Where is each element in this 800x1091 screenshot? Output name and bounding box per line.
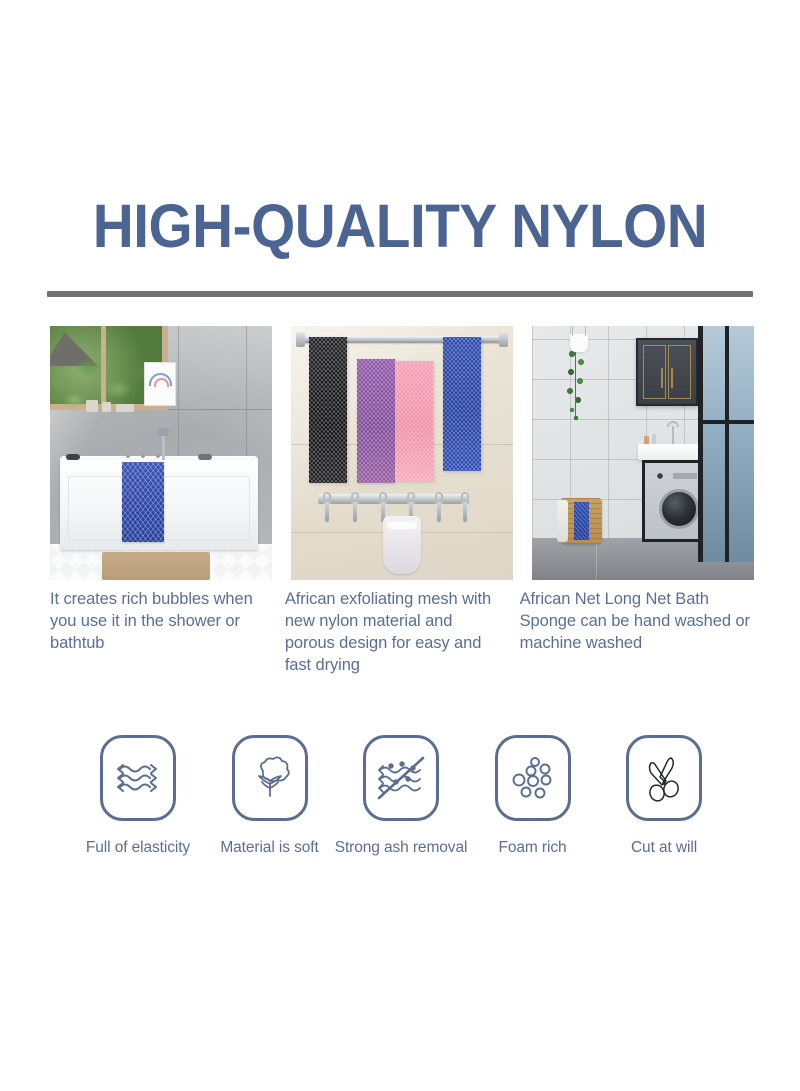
sponges-on-rail-photo [291, 326, 513, 580]
rack-hook [463, 502, 467, 522]
feature-label: Cut at will [631, 839, 697, 857]
elasticity-waves-icon [100, 735, 176, 821]
blue-mesh-sponge [443, 337, 481, 471]
feature-material-is-soft: Material is soft [208, 735, 332, 857]
pink-mesh-sponge [395, 361, 433, 481]
feature-foam-rich: Foam rich [471, 735, 595, 857]
feature-label: Full of elasticity [86, 839, 190, 857]
sink-tap [672, 426, 674, 444]
rail-bracket-right [499, 332, 508, 347]
blue-mesh-sponge [574, 502, 589, 540]
photo-column-1 [50, 326, 272, 580]
hanging-vine [562, 350, 592, 422]
photo-caption-2: African exfoliating mesh with new nylon … [285, 589, 501, 677]
basket-towel [557, 500, 568, 542]
photo-column-2 [291, 326, 513, 580]
sink-basin [638, 444, 706, 460]
hook-rack-bar [318, 494, 468, 504]
feature-label: Strong ash removal [335, 839, 468, 857]
plant-pot [570, 334, 588, 352]
cabinet-handles [661, 368, 673, 388]
black-mesh-sponge [309, 337, 347, 483]
page-title: HIGH-QUALITY NYLON [28, 196, 772, 257]
scissors-icon [626, 735, 702, 821]
washer-control-panel [655, 471, 701, 481]
bathroom-bathtub-photo [50, 326, 272, 580]
tub-handle-left [66, 454, 80, 460]
rack-hook [437, 502, 441, 522]
foam-bubbles-icon [495, 735, 571, 821]
photo-row [50, 326, 753, 580]
feature-full-of-elasticity: Full of elasticity [76, 735, 200, 857]
rail-bracket-left [296, 332, 305, 347]
rack-hook [325, 502, 329, 522]
photo-caption-1: It creates rich bubbles when you use it … [50, 589, 266, 677]
shower-head [162, 434, 165, 460]
no-ash-waves-icon [363, 735, 439, 821]
feature-row: Full of elasticity Material is soft [76, 735, 726, 857]
laundry-room-photo [532, 326, 754, 580]
feature-label: Material is soft [220, 839, 318, 857]
white-bath-mitt [383, 516, 421, 574]
photo-caption-3: African Net Long Net Bath Sponge can be … [520, 589, 753, 677]
feature-label: Foam rich [498, 839, 566, 857]
header-block: HIGH-QUALITY NYLON [0, 196, 800, 297]
rainbow-shape [149, 373, 172, 386]
tap-knobs [122, 452, 164, 459]
photo-column-3 [532, 326, 754, 580]
rainbow-artwork [144, 362, 176, 406]
title-divider [47, 291, 753, 297]
purple-mesh-sponge [357, 359, 395, 483]
rack-hook [353, 502, 357, 522]
laundry-basket [560, 498, 602, 544]
side-window [698, 326, 754, 562]
caption-row: It creates rich bubbles when you use it … [50, 589, 753, 677]
washer-door [659, 489, 699, 529]
feature-cut-at-will: Cut at will [602, 735, 726, 857]
cotton-boll-icon [232, 735, 308, 821]
window-mullion [101, 326, 106, 404]
blue-mesh-sponge [122, 462, 164, 542]
bath-mat [102, 552, 210, 580]
feature-strong-ash-removal: Strong ash removal [339, 735, 463, 857]
washing-machine [642, 460, 702, 542]
tub-handle-right [198, 454, 212, 460]
sill-items [86, 396, 138, 412]
